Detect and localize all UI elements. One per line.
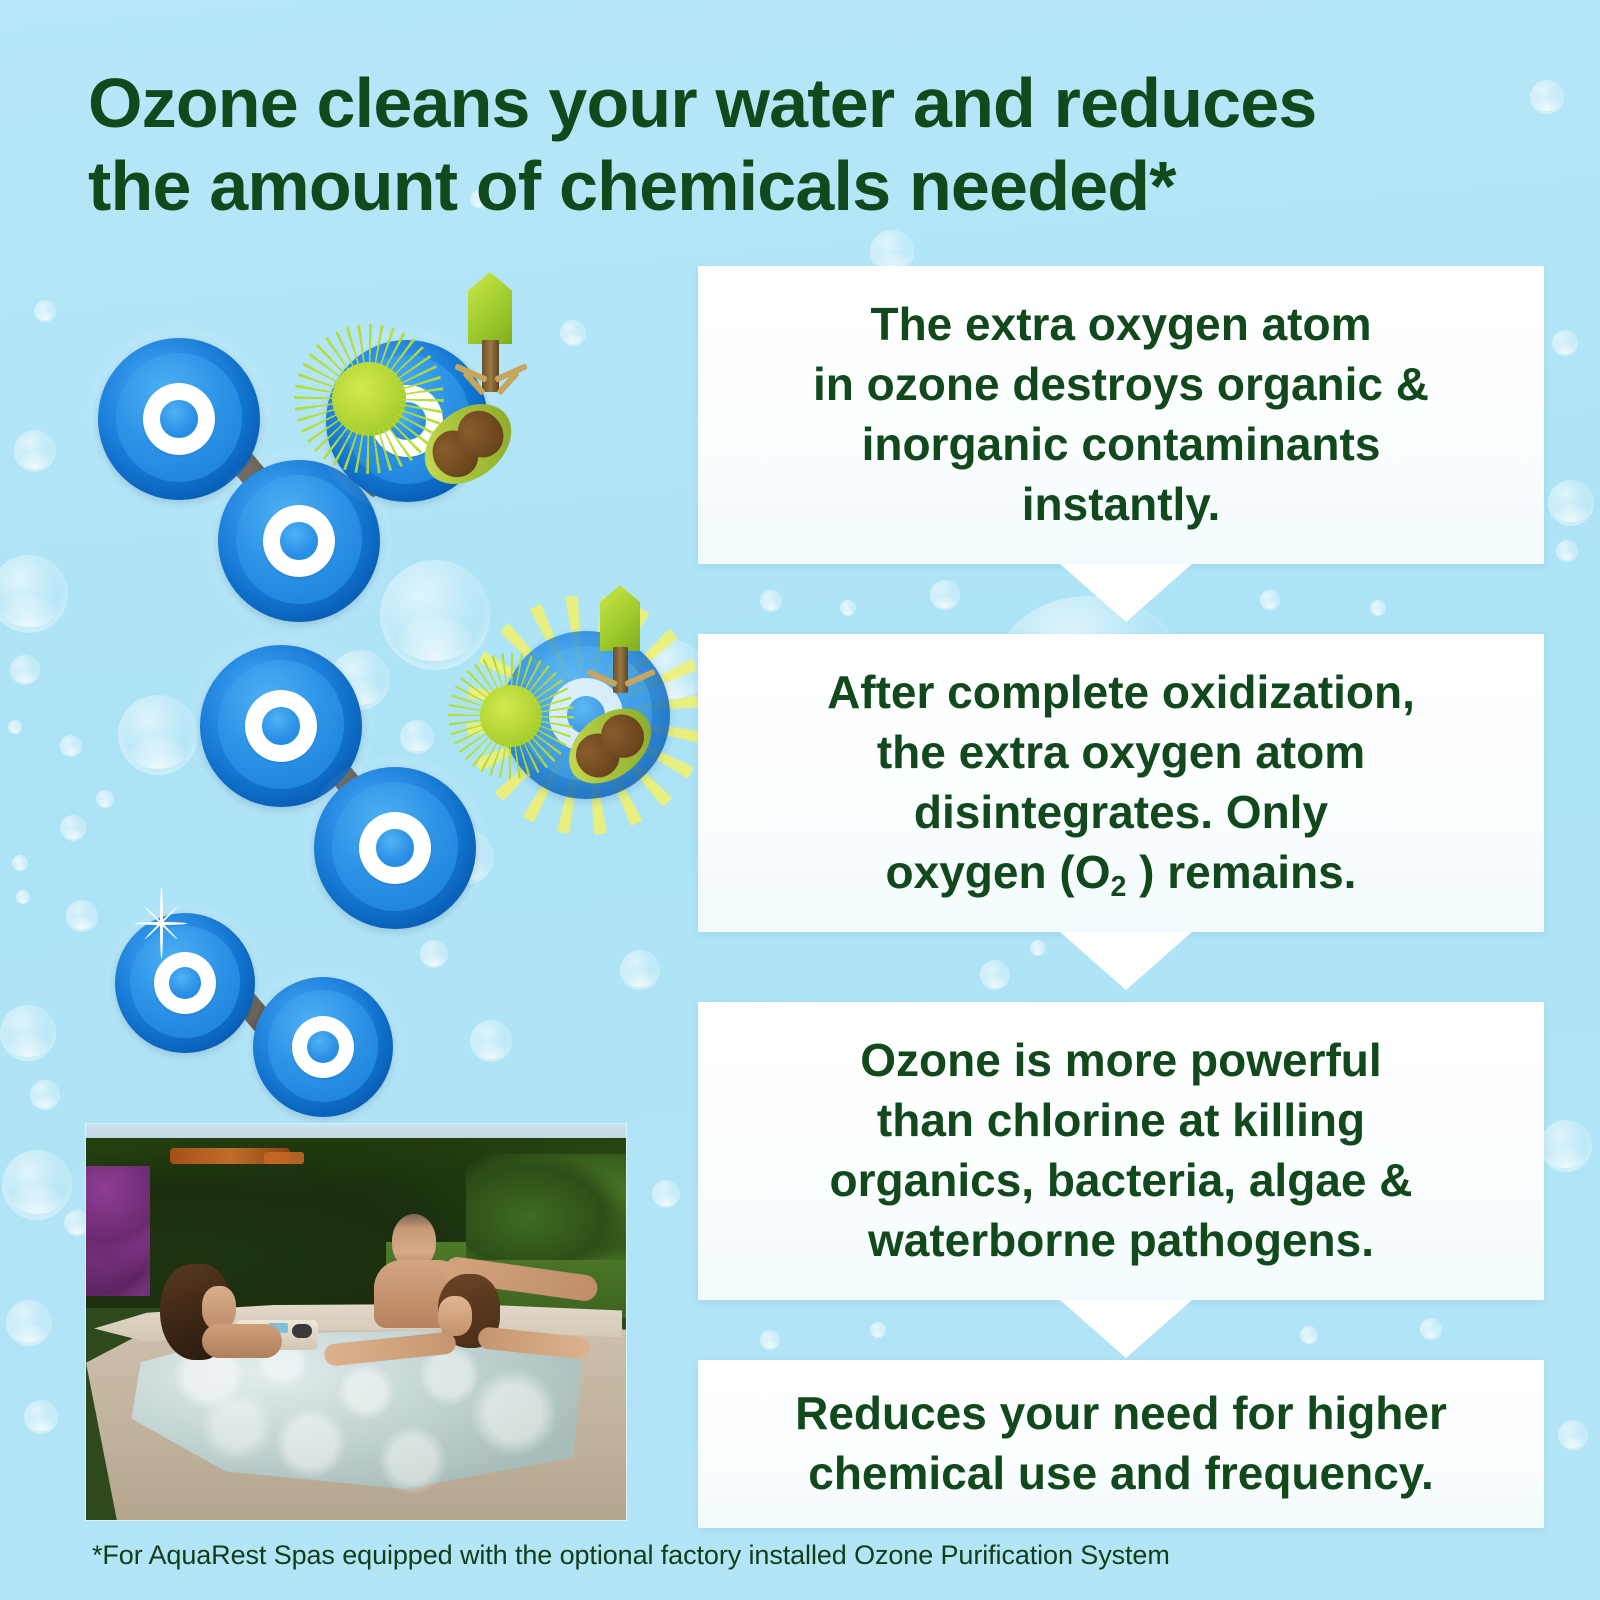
callout-line: After complete oxidization, <box>827 666 1415 718</box>
photo-background-accent <box>264 1152 304 1164</box>
bubble-icon <box>8 720 22 734</box>
bubble-icon <box>60 815 86 841</box>
bubble-icon <box>10 655 40 685</box>
footnote-disclaimer: *For AquaRest Spas equipped with the opt… <box>92 1540 1170 1571</box>
bubble-icon <box>2 1150 72 1220</box>
callout-line: chemical use and frequency. <box>808 1447 1434 1499</box>
bubble-icon <box>60 735 82 757</box>
callout-line: Ozone is more powerful <box>860 1034 1381 1086</box>
callout-line: in ozone destroys organic & <box>813 358 1429 410</box>
bubble-icon <box>1530 80 1564 114</box>
page-title: Ozone cleans your water and reduces the … <box>88 62 1508 229</box>
bubble-icon <box>6 1300 52 1346</box>
callout-line: instantly. <box>1022 478 1221 530</box>
callout-oxygen-destroys: The extra oxygen atom in ozone destroys … <box>698 266 1544 564</box>
bubble-icon <box>870 1322 886 1338</box>
germ-spikes <box>448 653 574 779</box>
bubble-icon <box>0 1005 56 1061</box>
callout-line-prefix: oxygen (O <box>886 846 1111 898</box>
ozone-molecule-o3-oxidizing <box>180 575 700 905</box>
callout-line: organics, bacteria, algae & <box>830 1154 1413 1206</box>
callout-text: After complete oxidization, the extra ox… <box>803 663 1439 902</box>
hot-tub-family-photo <box>86 1124 626 1520</box>
photo-person-girl-face <box>438 1296 472 1336</box>
bubble-icon <box>1558 1420 1588 1450</box>
callout-line: than chlorine at killing <box>877 1094 1365 1146</box>
oxygen-atom <box>115 913 255 1053</box>
photo-shrub <box>466 1154 626 1260</box>
phage-head <box>468 272 512 344</box>
oxygen-atom-ring <box>292 1016 354 1078</box>
callout-line: the extra oxygen atom <box>877 726 1365 778</box>
oxygen-atom-ring <box>245 690 317 762</box>
bubble-icon <box>930 580 960 610</box>
bubble-icon <box>652 1180 680 1208</box>
bubble-icon <box>1300 1326 1318 1344</box>
bubble-icon <box>14 430 56 472</box>
bubble-icon <box>1260 590 1280 610</box>
callout-line: The extra oxygen atom <box>870 298 1371 350</box>
subscript-2: 2 <box>1110 871 1126 903</box>
oxygen-atom-ring <box>359 812 431 884</box>
bacteriophage-icon <box>566 585 676 715</box>
oxygen-atom-ring <box>143 383 215 455</box>
bubble-icon <box>16 890 30 904</box>
bubble-icon <box>1552 330 1578 356</box>
bubble-icon <box>1370 600 1386 616</box>
photo-control-knob <box>292 1324 312 1338</box>
germ-cluster-icon <box>332 362 406 436</box>
photo-person-woman-shoulder <box>202 1324 282 1358</box>
bubble-icon <box>12 855 28 871</box>
oxygen-molecule-o2 <box>95 885 435 1105</box>
photo-purple-flowers <box>86 1166 150 1296</box>
germ-spikes <box>294 324 445 475</box>
phage-head <box>600 585 640 651</box>
phage-tail <box>482 340 499 392</box>
bubble-icon <box>470 1020 512 1062</box>
callout-line: Reduces your need for higher <box>795 1387 1447 1439</box>
bubble-icon <box>760 590 782 612</box>
callout-text: Ozone is more powerful than chlorine at … <box>806 1031 1437 1270</box>
callout-line: disintegrates. Only <box>914 786 1328 838</box>
bubble-icon <box>980 960 1010 990</box>
bubble-icon <box>840 600 856 616</box>
callout-pointer-1 <box>1060 564 1192 622</box>
phage-leg <box>624 669 656 687</box>
bubble-icon <box>620 950 660 990</box>
bubble-icon <box>1030 940 1046 956</box>
callout-text: The extra oxygen atom in ozone destroys … <box>789 295 1453 534</box>
germ-cluster-icon <box>480 685 542 747</box>
bubble-icon <box>96 790 114 808</box>
sparkle-icon <box>159 921 163 925</box>
callout-oxidization: After complete oxidization, the extra ox… <box>698 634 1544 932</box>
bubble-icon <box>66 900 98 932</box>
callout-pointer-2 <box>1060 932 1192 990</box>
oxygen-atom-ring <box>263 505 335 577</box>
ozone-molecule-o3-with-pathogens <box>80 270 600 600</box>
bubble-icon <box>760 1330 780 1350</box>
bubble-icon <box>1556 540 1578 562</box>
bubble-icon <box>24 1400 58 1434</box>
oxygen-atom <box>253 977 393 1117</box>
page-title-line-2: the amount of chemicals needed* <box>88 145 1508 228</box>
bacteriophage-icon <box>432 272 552 412</box>
bubble-icon <box>1540 1120 1592 1172</box>
bubble-icon <box>1548 480 1594 526</box>
page-title-line-1: Ozone cleans your water and reduces <box>88 62 1508 145</box>
bubble-icon <box>30 1080 60 1110</box>
bubble-icon <box>34 300 56 322</box>
bubble-icon <box>1420 1318 1442 1340</box>
callout-line-suffix: ) remains. <box>1126 846 1356 898</box>
oxygen-atom-ring <box>154 952 216 1014</box>
callout-more-powerful: Ozone is more powerful than chlorine at … <box>698 1002 1544 1300</box>
callout-line: inorganic contaminants <box>862 418 1381 470</box>
callout-pointer-3 <box>1060 1300 1192 1358</box>
callout-line: waterborne pathogens. <box>868 1214 1374 1266</box>
infographic-canvas: Ozone cleans your water and reduces the … <box>0 0 1600 1600</box>
callout-text: Reduces your need for higher chemical us… <box>771 1384 1471 1504</box>
bubble-icon <box>0 555 68 633</box>
callout-reduces-need: Reduces your need for higher chemical us… <box>698 1360 1544 1528</box>
